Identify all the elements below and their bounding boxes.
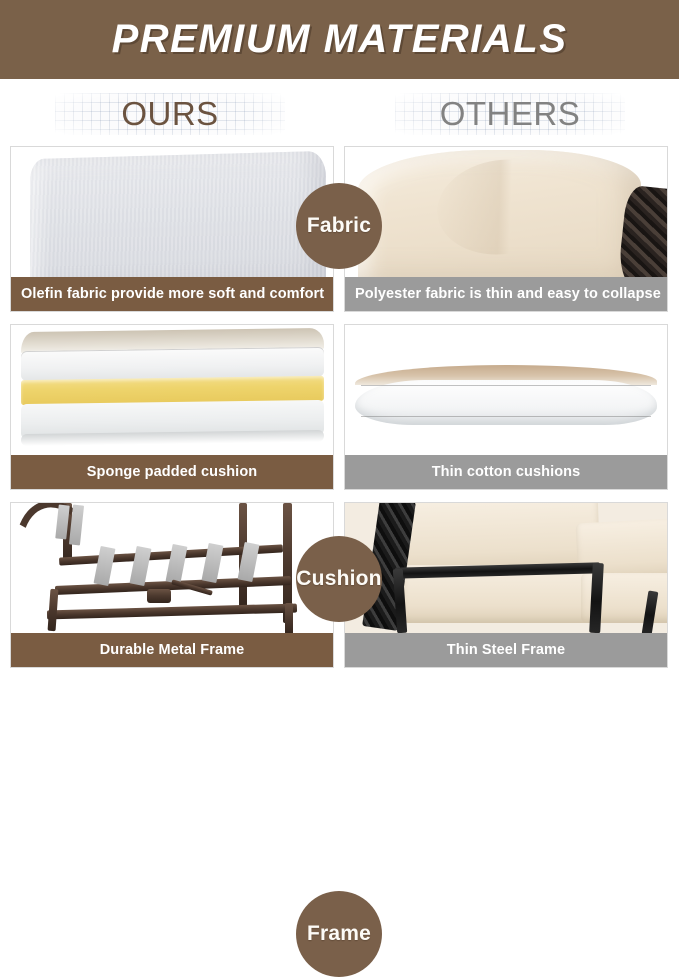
panel-others-cushion: Thin cotton cushions (344, 324, 668, 490)
thin-cotton-cushion-image (355, 365, 658, 426)
badge-fabric-label: Fabric (307, 214, 371, 238)
page-title: PREMIUM MATERIALS (112, 17, 568, 62)
polyester-pillow-image (358, 150, 641, 279)
caption-bar-ours-cushion: Sponge padded cushion (11, 455, 333, 489)
badge-cushion: Cushion (296, 536, 382, 622)
frame-center-bracket (147, 589, 171, 603)
caption-text-ours-cushion: Sponge padded cushion (21, 464, 323, 480)
header-banner: PREMIUM MATERIALS (0, 0, 679, 79)
caption-bar-others-cushion: Thin cotton cushions (345, 455, 667, 489)
photo-ours-fabric (11, 147, 333, 279)
badge-frame-label: Frame (307, 922, 371, 946)
cushion-layer-base (21, 430, 324, 446)
photo-others-cushion (345, 325, 667, 457)
metal-frame-image (11, 503, 333, 635)
frame-slat-3 (166, 544, 188, 584)
column-heading-ours-label: OURS (121, 95, 218, 133)
caption-text-ours-frame: Durable Metal Frame (21, 642, 323, 658)
panel-ours-fabric: Olefin fabric provide more soft and comf… (10, 146, 334, 312)
column-headings: OURS OTHERS (0, 79, 679, 146)
caption-text-others-fabric: Polyester fabric is thin and easy to col… (355, 286, 661, 302)
panel-others-frame: Thin Steel Frame (344, 502, 668, 668)
comparison-row-cushion: Sponge padded cushion Thin cotton cushio… (0, 324, 679, 490)
caption-text-ours-fabric: Olefin fabric provide more soft and comf… (21, 286, 323, 302)
frame-slat-2 (130, 546, 152, 586)
panel-others-fabric: Polyester fabric is thin and easy to col… (344, 146, 668, 312)
badge-fabric: Fabric (296, 183, 382, 269)
caption-text-others-frame: Thin Steel Frame (355, 642, 657, 658)
olefin-pillow-image (30, 151, 326, 279)
caption-bar-ours-frame: Durable Metal Frame (11, 633, 333, 667)
comparison-grid: Olefin fabric provide more soft and comf… (0, 146, 679, 671)
panel-ours-frame: Durable Metal Frame (10, 502, 334, 668)
photo-others-frame (345, 503, 667, 635)
caption-bar-others-frame: Thin Steel Frame (345, 633, 667, 667)
panel-ours-cushion: Sponge padded cushion (10, 324, 334, 490)
photo-others-fabric (345, 147, 667, 279)
badge-frame: Frame (296, 891, 382, 977)
cushion-stitch-line-upper (361, 385, 652, 386)
cushion-white-body (355, 380, 658, 425)
badge-cushion-label: Cushion (296, 567, 381, 591)
photo-ours-cushion (11, 325, 333, 457)
frame-front-leg-right (285, 603, 293, 635)
caption-text-others-cushion: Thin cotton cushions (355, 464, 657, 480)
column-heading-ours: OURS (55, 93, 285, 135)
column-heading-others-label: OTHERS (440, 95, 581, 133)
photo-ours-frame (11, 503, 333, 635)
column-heading-others: OTHERS (395, 93, 625, 135)
caption-bar-others-fabric: Polyester fabric is thin and easy to col… (345, 277, 667, 311)
comparison-row-fabric: Olefin fabric provide more soft and comf… (0, 146, 679, 312)
sponge-cushion-image (21, 328, 324, 448)
cushion-stitch-line-lower (361, 416, 652, 417)
steel-frame-image (345, 503, 667, 635)
caption-bar-ours-fabric: Olefin fabric provide more soft and comf… (11, 277, 333, 311)
